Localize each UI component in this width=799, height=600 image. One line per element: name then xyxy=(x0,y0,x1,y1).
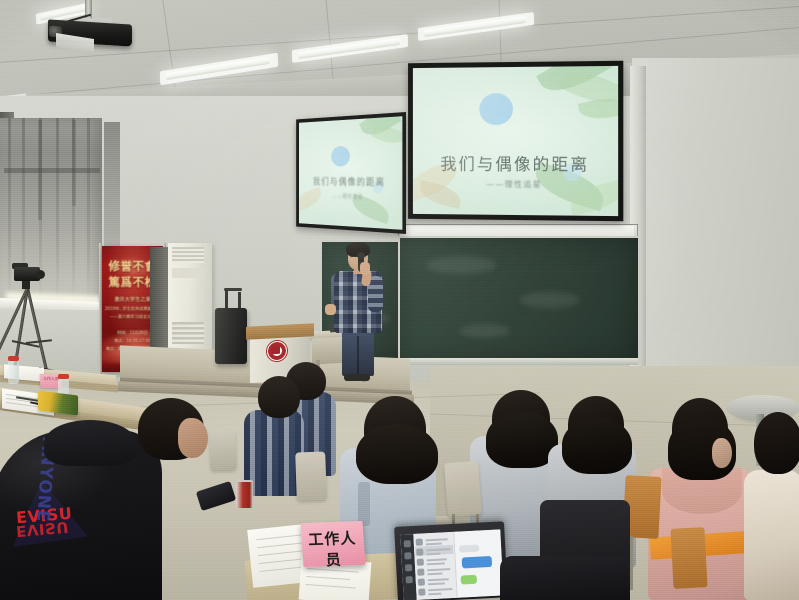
classroom-lecture-photo: 修誉不會 篤爲不松 重庆大学生之家 2019年..学生优秀成果展交流 ——第六期… xyxy=(0,0,799,600)
bottle-cap xyxy=(8,356,19,361)
chair-backrest[interactable] xyxy=(295,451,327,500)
speaker-hand-right xyxy=(360,262,370,275)
water-bottle xyxy=(8,360,19,384)
audience-head xyxy=(258,376,300,418)
list-item[interactable] xyxy=(418,586,454,597)
audience-hair-bun xyxy=(712,438,732,468)
projection-screen-main-surface: 我们与偶像的距离 ——理性追星 xyxy=(413,66,618,216)
chalk-tray xyxy=(396,358,638,365)
staff-badge-label: 工作人员 xyxy=(302,527,365,571)
rolling-suitcase xyxy=(215,308,247,364)
bottle-cap xyxy=(58,374,69,379)
chair-backrest[interactable] xyxy=(209,430,236,471)
foreground-bag xyxy=(500,556,630,600)
window-mullion-vertical xyxy=(72,120,76,206)
message-bubble-green xyxy=(461,575,477,585)
suitcase-handle-rod xyxy=(225,290,228,310)
tripod-head xyxy=(22,280,30,289)
wall-glass-strip-pane xyxy=(400,226,634,236)
audience-head xyxy=(754,412,799,474)
audience-body xyxy=(244,410,304,496)
message-bubble xyxy=(459,545,479,553)
camera-lens-icon xyxy=(36,270,45,279)
university-emblem-center xyxy=(272,346,280,354)
projection-screen-side: 我们与偶像的距离 ——理性追星 xyxy=(296,112,406,234)
sidebar-icon-files[interactable] xyxy=(405,564,412,571)
window-mullion-vertical xyxy=(38,120,42,220)
speaker-leg-seam xyxy=(357,336,359,376)
projection-screen-side-surface: 我们与偶像的距离 ——理性追星 xyxy=(299,116,402,230)
sidebar-icon-contacts[interactable] xyxy=(404,552,411,559)
window-mullion-horizontal xyxy=(4,168,100,173)
sidebar-icon-chat[interactable] xyxy=(404,540,411,547)
audience-hair xyxy=(562,418,632,474)
chair-leg xyxy=(630,536,633,590)
foreground-person-face xyxy=(178,418,208,458)
jacket-hood xyxy=(44,420,136,466)
laptop-screen[interactable] xyxy=(400,529,503,600)
microphone-head-icon xyxy=(357,252,365,259)
message-bubble-accent xyxy=(462,556,493,569)
ac-control-panel xyxy=(172,268,204,278)
ac-grille-top xyxy=(172,247,204,263)
window-curtain xyxy=(0,118,102,318)
chalkboard-main xyxy=(398,236,640,364)
speaker-hand-left xyxy=(325,304,336,315)
doorway-dark-recess xyxy=(150,247,169,353)
chair-backrest-wood[interactable] xyxy=(670,527,707,589)
audience-body xyxy=(744,470,799,600)
speaker-shoes xyxy=(344,374,370,381)
drink-can xyxy=(236,482,253,508)
ac-grille-bottom xyxy=(172,322,204,344)
chair-backrest[interactable] xyxy=(444,461,482,517)
sidebar-icon-settings[interactable] xyxy=(406,576,413,583)
jacket-seam xyxy=(358,482,370,526)
projection-screen-main: 我们与偶像的距离 ——理性追星 xyxy=(408,61,623,222)
audience-hair xyxy=(356,424,438,484)
